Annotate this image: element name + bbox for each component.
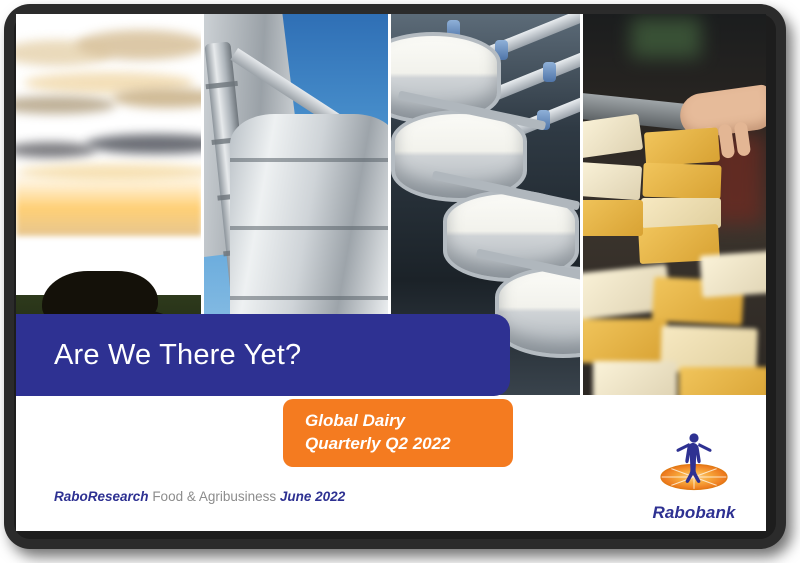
sunset-glow [16,174,201,236]
rabobank-wordmark: Rabobank [640,503,748,523]
cloud-shape [16,142,96,158]
screenshot-root: Are We There Yet? Global Dairy Quarterly… [0,0,800,563]
presentation-slide: Are We There Yet? Global Dairy Quarterly… [16,14,766,531]
tank-seam [230,296,387,300]
cloud-shape [16,96,116,114]
footer-department-text: Food & Agribusiness [152,489,276,504]
tank-seam [230,158,387,162]
title-banner: Are We There Yet? [16,314,510,396]
footer-byline: RaboResearch Food & Agribusiness June 20… [54,489,345,504]
cheese-block [583,162,642,201]
foreground-cheese-pile [583,245,766,395]
slide-title: Are We There Yet? [16,339,301,372]
slide-footer: RaboResearch Food & Agribusiness June 20… [16,467,766,531]
photo-cheese-retail [583,14,766,395]
cloud-shape [76,30,201,60]
subtitle-line-2: Quarterly Q2 2022 [305,433,513,456]
tank-seam [230,226,387,230]
subtitle-box: Global Dairy Quarterly Q2 2022 [283,399,513,467]
cheese-block [583,114,643,159]
cloud-shape [86,134,201,154]
cheese-block [642,163,721,200]
silo-tank-front [230,114,387,344]
rabobank-logo: Rabobank [640,429,748,525]
rabobank-figure-on-disc-icon [640,429,748,491]
footer-brand: RaboResearch [54,489,149,504]
subtitle-line-1: Global Dairy [305,410,513,433]
cheese-block [644,127,720,166]
background-blur-green [631,18,701,58]
blue-valve-knob [543,62,556,82]
footer-date: June 2022 [280,489,345,504]
cloud-shape [112,88,201,108]
cheese-block [583,200,643,236]
